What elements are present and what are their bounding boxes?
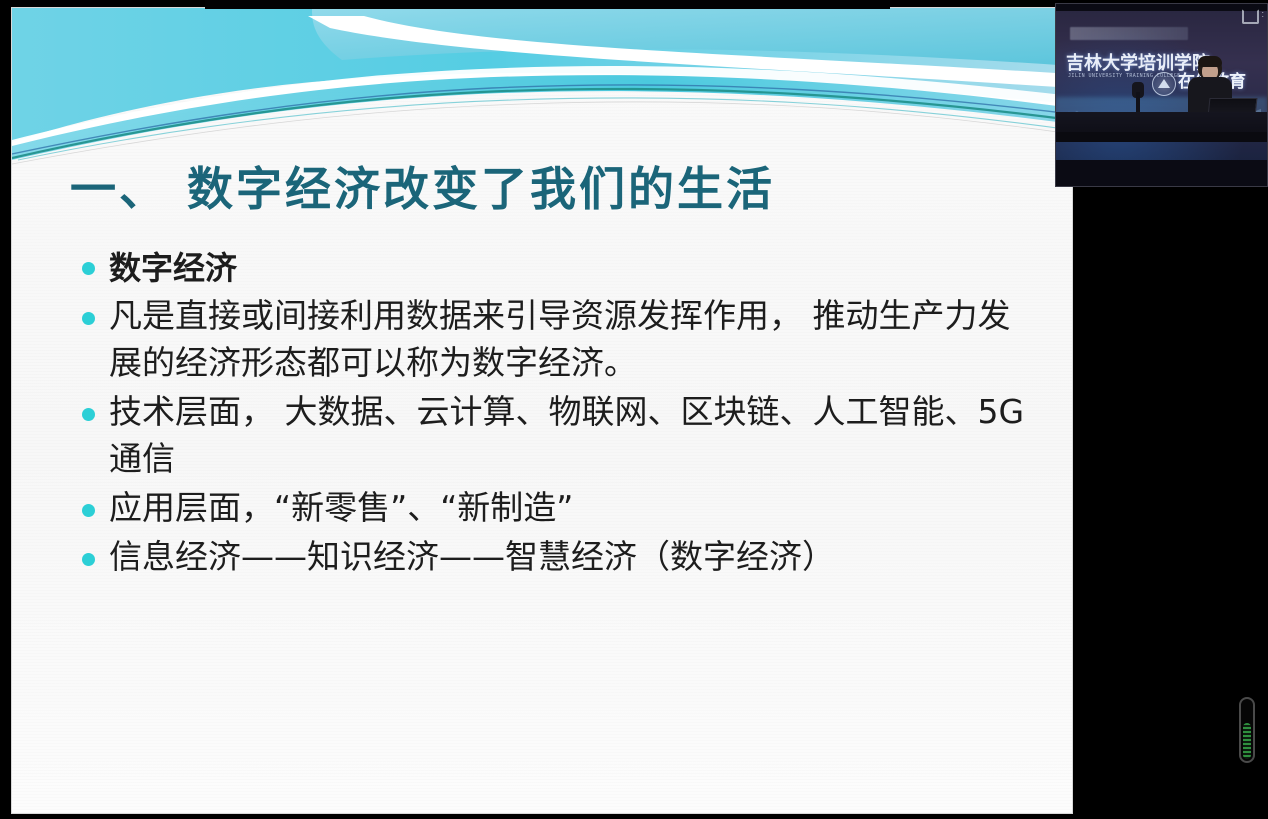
top-black-strip xyxy=(205,0,890,9)
pip-menu-icon[interactable]: : xyxy=(1261,10,1265,19)
slide-title: 一、 数字经济改变了我们的生活 xyxy=(70,163,1050,216)
audio-level-meter[interactable] xyxy=(1239,697,1255,763)
university-emblem-icon xyxy=(1152,72,1176,96)
bullet-text: 应用层面，“新零售”、“新制造” xyxy=(109,485,1042,532)
desk-front-panel xyxy=(1056,132,1267,142)
presentation-slide: 一、 数字经济改变了我们的生活 数字经济 凡是直接或间接利用数据来引导资源发挥作… xyxy=(12,8,1072,813)
list-item: 信息经济——知识经济——智慧经济（数字经济） xyxy=(82,534,1042,581)
banner-top-line xyxy=(1070,27,1188,40)
list-item: 技术层面， 大数据、云计算、物联网、区块链、人工智能、5G通信 xyxy=(82,389,1042,483)
video-frame: 吉林大学培训学院 JILIN UNIVERSITY TRAINING COLLE… xyxy=(1056,4,1267,186)
audio-level-fill xyxy=(1243,723,1251,759)
list-item: 应用层面，“新零售”、“新制造” xyxy=(82,485,1042,532)
bullet-text: 凡是直接或间接利用数据来引导资源发挥作用， 推动生产力发展的经济形态都可以称为数… xyxy=(109,293,1042,387)
bullet-text: 技术层面， 大数据、云计算、物联网、区块链、人工智能、5G通信 xyxy=(109,389,1042,483)
bullet-dot-icon xyxy=(82,504,95,517)
presenter-video[interactable]: 吉林大学培训学院 JILIN UNIVERSITY TRAINING COLLE… xyxy=(1055,3,1268,187)
bullet-text: 信息经济——知识经济——智慧经济（数字经济） xyxy=(109,534,1042,581)
bullet-dot-icon xyxy=(82,553,95,566)
screen-root: 一、 数字经济改变了我们的生活 数字经济 凡是直接或间接利用数据来引导资源发挥作… xyxy=(0,0,1268,819)
bullet-text: 数字经济 xyxy=(109,246,1042,291)
slide-bullet-list: 数字经济 凡是直接或间接利用数据来引导资源发挥作用， 推动生产力发展的经济形态都… xyxy=(82,246,1042,583)
list-item: 数字经济 xyxy=(82,246,1042,291)
list-item: 凡是直接或间接利用数据来引导资源发挥作用， 推动生产力发展的经济形态都可以称为数… xyxy=(82,293,1042,387)
presenter-hair xyxy=(1198,56,1222,67)
pip-restore-icon[interactable] xyxy=(1242,9,1259,24)
wave-ribbon-decoration xyxy=(12,8,1072,168)
bullet-dot-icon xyxy=(82,262,95,275)
bullet-dot-icon xyxy=(82,312,95,325)
bullet-dot-icon xyxy=(82,408,95,421)
stage-backdrop: 吉林大学培训学院 JILIN UNIVERSITY TRAINING COLLE… xyxy=(1056,11,1267,160)
